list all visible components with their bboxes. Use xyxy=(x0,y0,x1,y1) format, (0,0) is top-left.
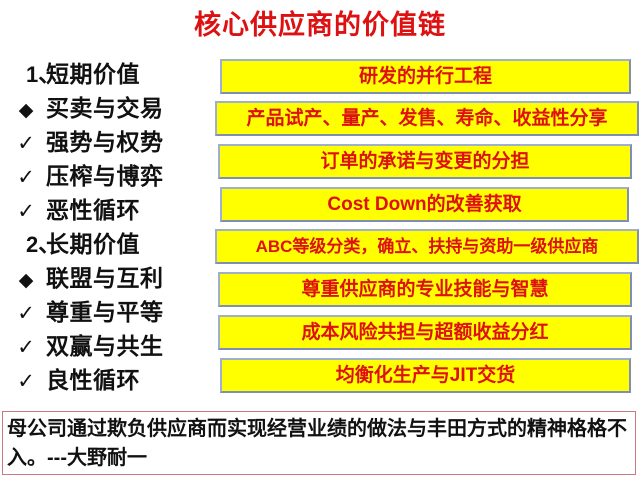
value-item-label: 恶性循环 xyxy=(46,193,140,227)
value-chain-box-label: 尊重供应商的专业技能与智慧 xyxy=(220,274,630,305)
value-chain-box: 成本风险共担与超额收益分红 xyxy=(218,315,632,350)
check-bullet-icon: ✓ xyxy=(6,127,46,161)
diamond-bullet-icon: ◆ xyxy=(6,94,46,128)
value-type-list: 1、短期价值◆买卖与交易✓强势与权势✓压榨与博弈✓恶性循环2、长期价值◆联盟与互… xyxy=(6,57,212,397)
value-list-item: ✓强势与权势 xyxy=(6,125,212,159)
quote-callout: 母公司通过欺负供应商而实现经营业绩的做法与丰田方式的精神格格不入。---大野耐一 xyxy=(2,411,636,475)
value-chain-box-label: 研发的并行工程 xyxy=(222,61,629,92)
value-list-item: ✓尊重与平等 xyxy=(6,295,212,329)
quote-text: 母公司通过欺负供应商而实现经营业绩的做法与丰田方式的精神格格不入。---大野耐一 xyxy=(7,415,631,473)
list-number-marker: 2、 xyxy=(6,228,46,262)
value-chain-box-label: Cost Down的改善获取 xyxy=(222,189,627,220)
value-chain-box-label: 均衡化生产与JIT交货 xyxy=(222,360,629,391)
value-chain-box: Cost Down的改善获取 xyxy=(220,187,629,222)
value-list-item: ✓恶性循环 xyxy=(6,193,212,227)
value-group-heading: 1、短期价值 xyxy=(6,57,212,91)
check-bullet-icon: ✓ xyxy=(6,195,46,229)
check-bullet-icon: ✓ xyxy=(6,331,46,365)
page-title: 核心供应商的价值链 xyxy=(0,8,640,42)
value-group-heading: 2、长期价值 xyxy=(6,227,212,261)
value-chain-box-label: 订单的承诺与变更的分担 xyxy=(220,146,630,177)
value-list-item: ✓双赢与共生 xyxy=(6,329,212,363)
value-list-item: ◆联盟与互利 xyxy=(6,261,212,295)
value-chain-box-label: 成本风险共担与超额收益分红 xyxy=(220,317,630,348)
check-bullet-icon: ✓ xyxy=(6,365,46,399)
value-chain-box: 订单的承诺与变更的分担 xyxy=(218,144,632,179)
diamond-bullet-icon: ◆ xyxy=(6,264,46,298)
check-bullet-icon: ✓ xyxy=(6,161,46,195)
value-chain-box: ABC等级分类，确立、扶持与资助一级供应商 xyxy=(215,229,639,264)
value-group-label: 长期价值 xyxy=(46,227,140,261)
value-list-item: ✓良性循环 xyxy=(6,363,212,397)
value-chain-box: 尊重供应商的专业技能与智慧 xyxy=(218,272,632,307)
value-item-label: 买卖与交易 xyxy=(46,91,164,125)
value-item-label: 强势与权势 xyxy=(46,125,164,159)
value-list-item: ◆买卖与交易 xyxy=(6,91,212,125)
list-number-marker: 1、 xyxy=(6,58,46,92)
value-group-label: 短期价值 xyxy=(46,57,140,91)
value-list-item: ✓压榨与博弈 xyxy=(6,159,212,193)
value-item-label: 压榨与博弈 xyxy=(46,159,164,193)
value-item-label: 联盟与互利 xyxy=(46,261,164,295)
value-item-label: 双赢与共生 xyxy=(46,329,164,363)
value-chain-box-label: ABC等级分类，确立、扶持与资助一级供应商 xyxy=(217,231,637,262)
value-chain-box-label: 产品试产、量产、发售、寿命、收益性分享 xyxy=(217,103,637,134)
value-chain-box: 研发的并行工程 xyxy=(220,59,631,94)
value-chain-box: 产品试产、量产、发售、寿命、收益性分享 xyxy=(215,101,639,136)
value-item-label: 良性循环 xyxy=(46,363,140,397)
value-chain-box: 均衡化生产与JIT交货 xyxy=(220,358,631,393)
check-bullet-icon: ✓ xyxy=(6,297,46,331)
value-item-label: 尊重与平等 xyxy=(46,295,164,329)
